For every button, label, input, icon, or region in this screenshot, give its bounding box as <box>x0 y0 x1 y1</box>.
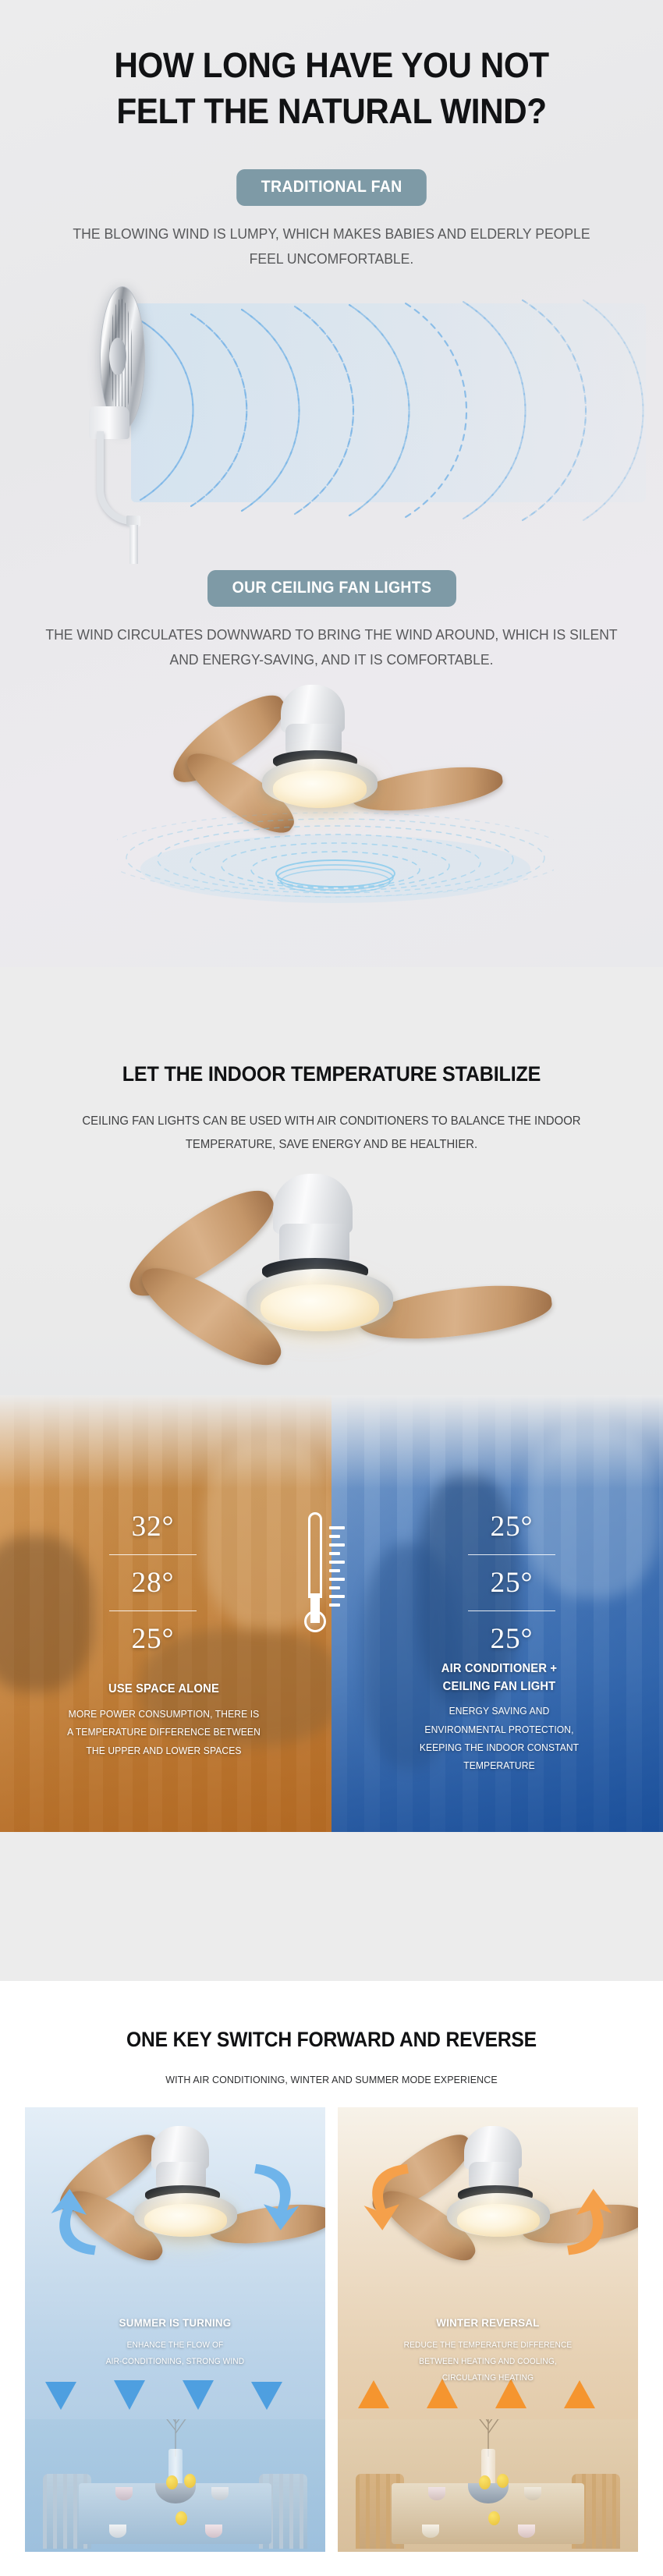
left-caption-body-line2: A TEMPERATURE DIFFERENCE BETWEEN <box>37 1724 291 1742</box>
thermometer-icon <box>298 1512 365 1645</box>
summer-mode-panel: SUMMER IS TURNING ENHANCE THE FLOW OF AI… <box>25 2107 325 2552</box>
right-caption-heading: AIR CONDITIONER + CEILING FAN LIGHT <box>374 1660 626 1695</box>
lemon <box>166 2475 178 2489</box>
summer-caption-heading: SUMMER IS TURNING <box>33 2316 318 2329</box>
cup <box>422 2525 439 2538</box>
left-caption-body-line1: MORE POWER CONSUMPTION, THERE IS <box>37 1706 291 1724</box>
fan-light-lens <box>261 1284 379 1331</box>
cup <box>428 2487 445 2500</box>
right-caption-body-line2: ENVIRONMENTAL PROTECTION, <box>372 1721 626 1739</box>
section-temperature-stabilize: LET THE INDOOR TEMPERATURE STABILIZE CEI… <box>0 967 663 1981</box>
right-temp-divider-1 <box>468 1554 555 1555</box>
winter-mode-panel: WINTER REVERSAL REDUCE THE TEMPERATURE D… <box>338 2107 638 2552</box>
cup <box>109 2525 126 2538</box>
page-title-line2: FELT THE NATURAL WIND? <box>20 88 643 134</box>
page-title: HOW LONG HAVE YOU NOT FELT THE NATURAL W… <box>0 0 663 135</box>
thermometer-tick <box>329 1535 340 1538</box>
left-caption-body: MORE POWER CONSUMPTION, THERE IS A TEMPE… <box>37 1706 291 1760</box>
summer-room-photo <box>25 2419 325 2552</box>
left-temperature-column: 32° 28° 25° <box>109 1512 197 1653</box>
summer-downward-arrows <box>25 2379 325 2425</box>
right-caption-body: ENERGY SAVING AND ENVIRONMENTAL PROTECTI… <box>372 1703 626 1775</box>
section2-desc-line2: TEMPERATURE, SAVE ENERGY AND BE HEALTHIE… <box>13 1133 650 1157</box>
right-caption-body-line1: ENERGY SAVING AND <box>372 1703 626 1720</box>
cup <box>211 2487 229 2500</box>
right-temperature-column: 25° 25° 25° <box>468 1512 555 1653</box>
lemon <box>175 2511 187 2525</box>
section3-description: WITH AIR CONDITIONING, WINTER AND SUMMER… <box>13 2074 650 2085</box>
section-forward-reverse: ONE KEY SWITCH FORWARD AND REVERSE WITH … <box>0 1981 663 2576</box>
summer-rotation-arrows <box>25 2138 325 2294</box>
fan-light-lens <box>273 771 367 808</box>
downward-airflow-ripples <box>117 811 554 905</box>
right-temp-mid: 25° <box>468 1568 555 1597</box>
lemon <box>497 2474 509 2488</box>
thermometer-tick <box>329 1586 340 1589</box>
our-ceiling-fan-desc-line1: THE WIND CIRCULATES DOWNWARD TO BRING TH… <box>16 622 647 647</box>
lumpy-wind-pattern <box>117 289 663 523</box>
winter-caption: WINTER REVERSAL REDUCE THE TEMPERATURE D… <box>338 2316 638 2387</box>
left-temp-bottom: 25° <box>109 1625 197 1653</box>
fan-support-arm <box>97 431 133 525</box>
page-title-line1: HOW LONG HAVE YOU NOT <box>20 42 643 88</box>
summer-caption-body-line1: ENHANCE THE FLOW OF <box>31 2337 320 2354</box>
ceiling-fan-graphic-large <box>117 1174 554 1377</box>
winter-room-photo <box>338 2419 638 2552</box>
traditional-fan-description: THE BLOWING WIND IS LUMPY, WHICH MAKES B… <box>16 221 647 272</box>
fan-hub-cap <box>109 338 126 375</box>
ceiling-fan-graphic <box>156 685 507 829</box>
thermometer-tick <box>329 1543 345 1547</box>
cup <box>115 2487 133 2500</box>
fan-pole <box>129 525 138 564</box>
thermometer-tube <box>308 1512 322 1598</box>
winter-rotation-arrows <box>338 2138 638 2294</box>
left-temp-top: 32° <box>109 1512 197 1541</box>
traditional-fan-desc-line1: THE BLOWING WIND IS LUMPY, WHICH MAKES B… <box>16 221 647 246</box>
left-temp-divider-2 <box>109 1610 197 1611</box>
left-caption-heading: USE SPACE ALONE <box>38 1681 290 1698</box>
room-chair-blob <box>0 1536 94 1692</box>
left-temp-mid: 28° <box>109 1568 197 1597</box>
section3-title: ONE KEY SWITCH FORWARD AND REVERSE <box>23 1981 640 2052</box>
traditional-fan-desc-line2: FEEL UNCOMFORTABLE. <box>16 246 647 271</box>
left-caption-body-line3: THE UPPER AND LOWER SPACES <box>37 1742 291 1760</box>
mode-panels: SUMMER IS TURNING ENHANCE THE FLOW OF AI… <box>0 2085 663 2552</box>
left-caption: USE SPACE ALONE MORE POWER CONSUMPTION, … <box>31 1681 296 1759</box>
section2-ceiling-fan-illustration <box>0 1161 663 1395</box>
lemon <box>479 2475 491 2489</box>
right-caption-heading-line1: AIR CONDITIONER + <box>374 1660 626 1678</box>
our-ceiling-fan-desc-line2: AND ENERGY-SAVING, AND IT IS COMFORTABLE… <box>16 647 647 672</box>
winter-caption-body-line1: REDUCE THE TEMPERATURE DIFFERENCE <box>344 2337 633 2354</box>
ceiling-fan-illustration <box>0 679 663 905</box>
right-temp-bottom: 25° <box>468 1625 555 1653</box>
thermometer-tick <box>329 1569 340 1572</box>
cup <box>524 2487 541 2500</box>
right-caption-heading-line2: CEILING FAN LIGHT <box>374 1678 626 1695</box>
winter-caption-body: REDUCE THE TEMPERATURE DIFFERENCE BETWEE… <box>344 2337 633 2387</box>
left-temp-divider-1 <box>109 1554 197 1555</box>
lemon <box>488 2511 500 2525</box>
thermometer-tick <box>329 1552 340 1555</box>
thermometer-tick <box>329 1595 345 1598</box>
traditional-fan-badge: TRADITIONAL FAN <box>236 169 427 206</box>
thermometer-tick <box>329 1561 345 1564</box>
section-traditional-vs-ceiling: HOW LONG HAVE YOU NOT FELT THE NATURAL W… <box>0 0 663 967</box>
right-temp-top: 25° <box>468 1512 555 1541</box>
section2-description: CEILING FAN LIGHTS CAN BE USED WITH AIR … <box>13 1110 650 1157</box>
lemon <box>184 2474 196 2488</box>
right-temp-divider-2 <box>468 1610 555 1611</box>
thermometer-tick <box>329 1578 345 1581</box>
temperature-comparison: 32° 28° 25° 25° 25° <box>0 1395 663 1832</box>
winter-caption-body-line3: CIRCULATING HEATING <box>344 2370 633 2386</box>
thermometer-tick <box>329 1603 340 1607</box>
section2-title: LET THE INDOOR TEMPERATURE STABILIZE <box>23 967 640 1086</box>
right-caption: AIR CONDITIONER + CEILING FAN LIGHT ENER… <box>367 1660 632 1775</box>
traditional-fan-badge-wrap: TRADITIONAL FAN <box>0 169 663 206</box>
our-ceiling-fan-description: THE WIND CIRCULATES DOWNWARD TO BRING TH… <box>16 622 647 673</box>
right-caption-body-line4: TEMPERATURE <box>372 1757 626 1775</box>
summer-caption-body: ENHANCE THE FLOW OF AIR-CONDITIONING, ST… <box>31 2337 320 2370</box>
traditional-fan-illustration <box>0 282 663 562</box>
winter-caption-heading: WINTER REVERSAL <box>346 2316 631 2329</box>
right-caption-body-line3: KEEPING THE INDOOR CONSTANT <box>372 1739 626 1757</box>
thermometer-bulb <box>304 1610 326 1632</box>
thermometer-tick <box>329 1526 345 1529</box>
our-ceiling-fan-badge: OUR CEILING FAN LIGHTS <box>207 570 456 607</box>
section2-desc-line1: CEILING FAN LIGHTS CAN BE USED WITH AIR … <box>13 1110 650 1133</box>
summer-caption-body-line2: AIR-CONDITIONING, STRONG WIND <box>31 2354 320 2370</box>
winter-caption-body-line2: BETWEEN HEATING AND COOLING, <box>344 2354 633 2370</box>
pedestal-fan-graphic <box>78 282 172 539</box>
our-ceiling-fan-badge-wrap: OUR CEILING FAN LIGHTS <box>0 570 663 607</box>
summer-caption: SUMMER IS TURNING ENHANCE THE FLOW OF AI… <box>25 2316 325 2370</box>
